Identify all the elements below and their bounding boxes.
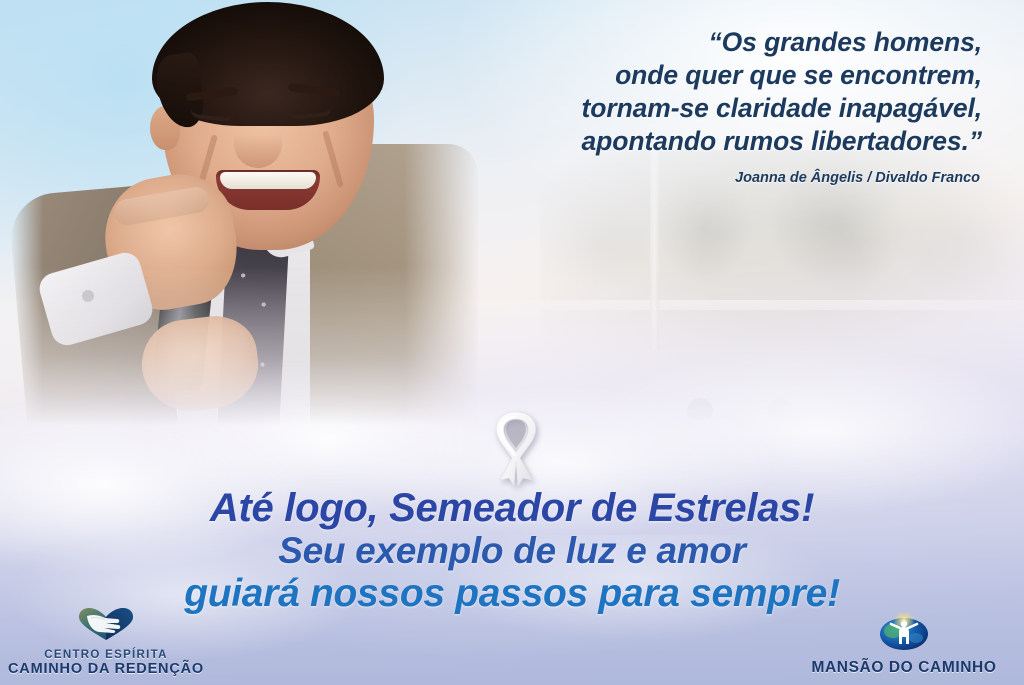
portrait-divaldo-franco <box>10 0 480 434</box>
quote-line-1: “Os grandes homens, <box>422 26 982 59</box>
nose <box>234 120 282 168</box>
memorial-headline: Até logo, Semeador de Estrelas! Seu exem… <box>0 486 1024 616</box>
quote-text: “Os grandes homens, onde quer que se enc… <box>422 26 982 158</box>
logo-left-line-1: CENTRO ESPÍRITA <box>6 649 206 661</box>
smiling-mouth <box>216 170 320 210</box>
quote-line-3: tornam-se claridade inapagável, <box>422 92 982 125</box>
white-ribbon-icon <box>485 408 547 486</box>
logo-right-line-2: MANSÃO DO CAMINHO <box>794 659 1014 677</box>
globe-figure-icon <box>794 611 1014 656</box>
hair <box>152 2 384 126</box>
quote-attribution: Joanna de Ângelis / Divaldo Franco <box>735 170 980 186</box>
teeth <box>220 172 316 189</box>
logo-mansao-do-caminho: MANSÃO DO CAMINHO <box>794 611 1014 677</box>
quote-line-4: apontando rumos libertadores.” <box>422 125 982 158</box>
logo-left-line-2: CAMINHO DA REDENÇÃO <box>6 661 206 677</box>
logo-centro-espirita: CENTRO ESPÍRITA CAMINHO DA REDENÇÃO <box>6 607 206 677</box>
heart-hands-icon <box>6 607 206 646</box>
quote-line-2: onde quer que se encontrem, <box>422 59 982 92</box>
headline-line-2: Seu exemplo de luz e amor <box>0 530 1024 572</box>
memorial-poster: “Os grandes homens, onde quer que se enc… <box>0 0 1024 685</box>
cuff-button <box>82 290 94 302</box>
headline-line-1: Até logo, Semeador de Estrelas! <box>0 486 1024 530</box>
